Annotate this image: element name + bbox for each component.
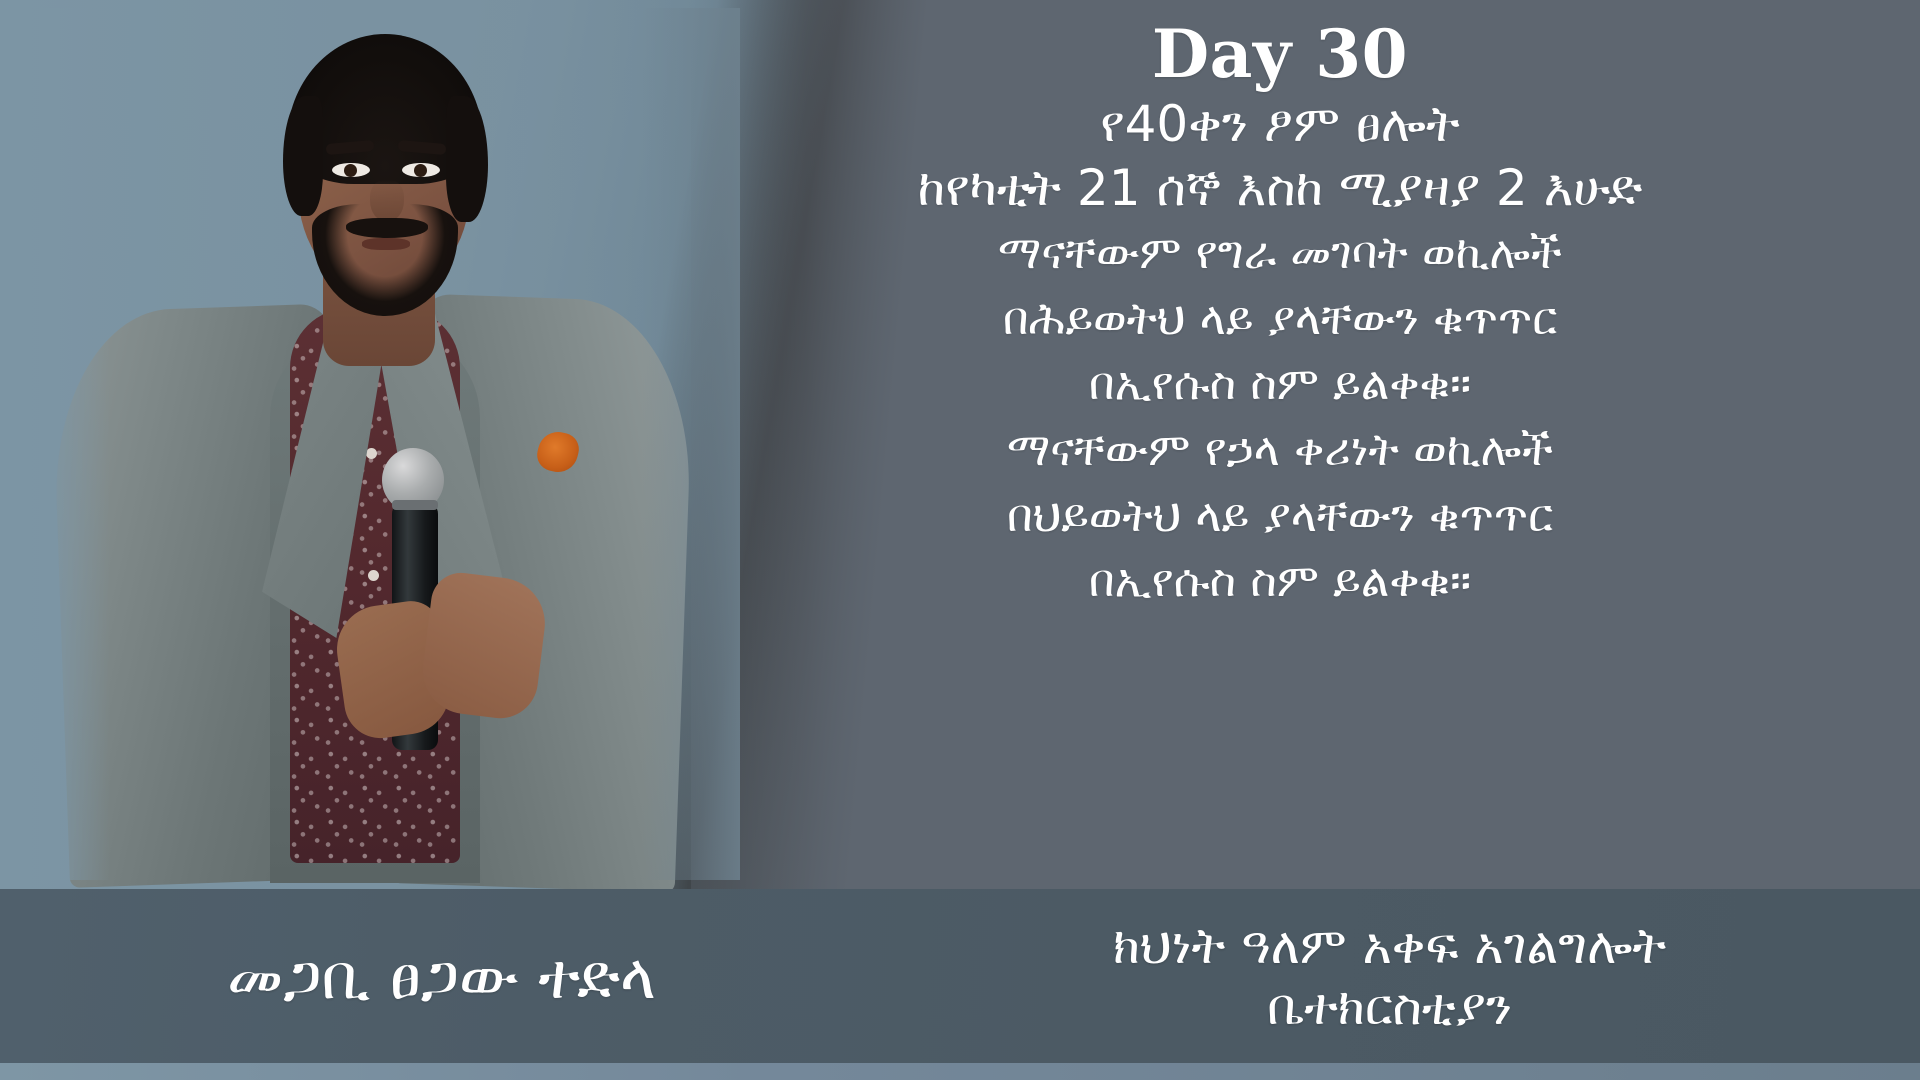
prayer-line-6: በኢየሱስ ስም ይልቀቁ። bbox=[640, 548, 1920, 614]
organization-line-2: ቤተክርስቲያን bbox=[883, 977, 1896, 1038]
speaker-name: መጋቢ ፀጋው ተድላ bbox=[0, 943, 883, 1011]
pupil-right bbox=[414, 164, 427, 177]
prayer-line-4: ማናቸውም የኃላ ቀሪነት ወኪሎች bbox=[640, 417, 1920, 483]
microphone-ring bbox=[392, 500, 438, 510]
moustache bbox=[346, 218, 428, 238]
hair-side-left bbox=[283, 96, 323, 216]
bottom-strip bbox=[0, 1063, 1920, 1080]
shirt-button bbox=[366, 448, 377, 459]
organization-name: ክህነት ዓለም አቀፍ አገልግሎት ቤተክርስቲያን bbox=[883, 916, 1920, 1038]
fast-period-title: የ40ቀን ፆም ፀሎት bbox=[640, 92, 1920, 156]
prayer-line-5: በህይወትህ ላይ ያላቸውን ቁጥጥር bbox=[640, 483, 1920, 549]
day-title: Day 30 bbox=[640, 18, 1920, 92]
prayer-line-1: ማናቸውም የግራ መገባት ወኪሎች bbox=[640, 220, 1920, 286]
speaker-portrait bbox=[40, 8, 740, 880]
nose bbox=[370, 180, 404, 222]
fast-date-range: ከየካቲት 21 ሰኞ እስከ ሚያዛያ 2 እሁድ bbox=[640, 156, 1920, 220]
bottom-bar: መጋቢ ፀጋው ተድላ ክህነት ዓለም አቀፍ አገልግሎት ቤተክርስቲያን bbox=[0, 889, 1920, 1065]
slide-canvas: Day 30 የ40ቀን ፆም ፀሎት ከየካቲት 21 ሰኞ እስከ ሚያዛያ… bbox=[0, 0, 1920, 1080]
prayer-line-3: በኢየሱስ ስም ይልቀቁ። bbox=[640, 351, 1920, 417]
mouth bbox=[362, 238, 410, 250]
hand-right bbox=[418, 569, 550, 722]
shirt-button bbox=[368, 570, 379, 581]
organization-line-1: ክህነት ዓለም አቀፍ አገልግሎት bbox=[1113, 917, 1666, 975]
pupil-left bbox=[344, 164, 357, 177]
message-text-block: Day 30 የ40ቀን ፆም ፀሎት ከየካቲት 21 ሰኞ እስከ ሚያዛያ… bbox=[640, 0, 1920, 614]
hair-side-right bbox=[446, 96, 488, 222]
prayer-line-2: በሕይወትህ ላይ ያላቸውን ቁጥጥር bbox=[640, 286, 1920, 352]
